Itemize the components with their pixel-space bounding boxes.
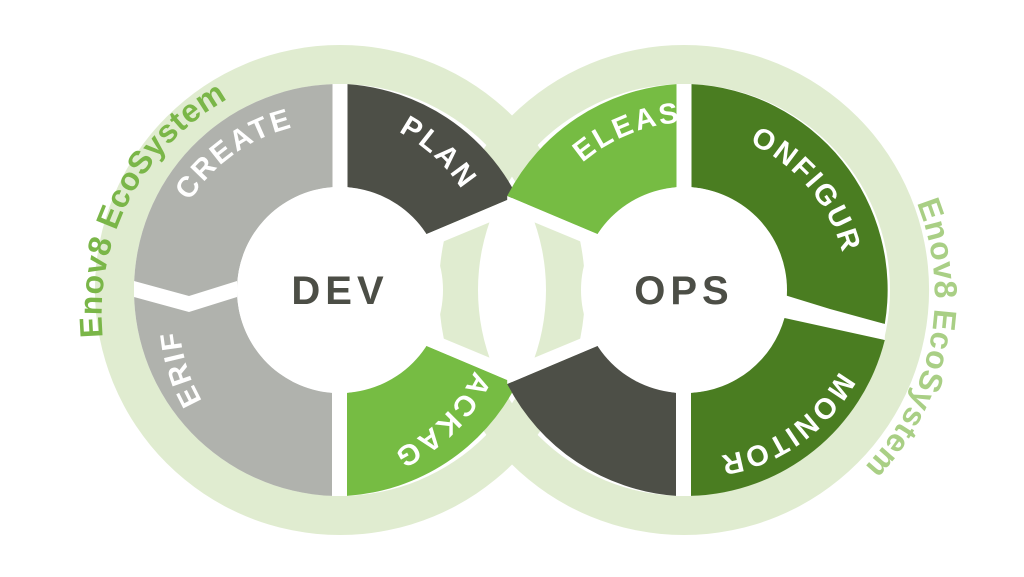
ops-hub-label: OPS <box>634 269 733 313</box>
infinity-loop-graphic: CREATE PLAN PACKAGE VERIFY RELEASE CONFI… <box>0 0 1024 577</box>
separator-release-configure <box>677 84 692 188</box>
dev-hub-label: DEV <box>291 269 388 313</box>
separator-create-plan <box>333 84 348 188</box>
devops-infinity-diagram: CREATE PLAN PACKAGE VERIFY RELEASE CONFI… <box>0 0 1024 577</box>
separator-operate-monitor <box>676 392 691 496</box>
separator-verify-package <box>332 392 347 496</box>
